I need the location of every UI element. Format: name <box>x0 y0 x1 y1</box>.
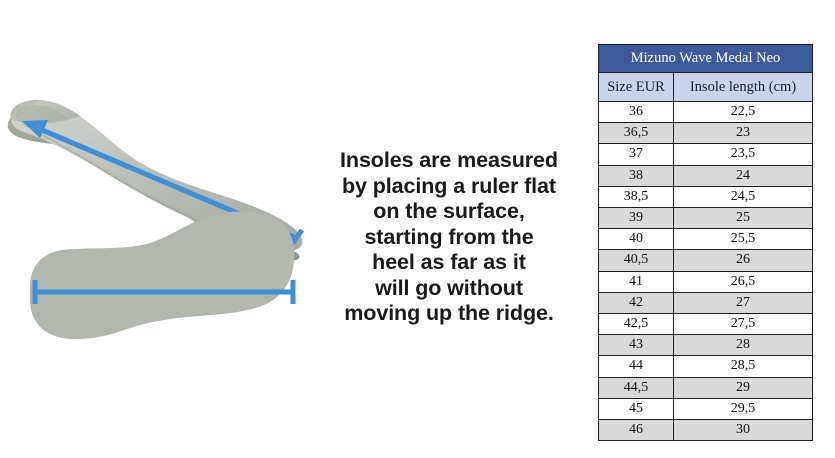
size-chart-title-row: Mizuno Wave Medal Neo <box>599 45 813 73</box>
table-row: 44,5 29 <box>599 377 813 398</box>
table-row: 40 25,5 <box>599 229 813 250</box>
cell-size: 42 <box>599 292 674 313</box>
cell-size: 40 <box>599 229 674 250</box>
instruction-line: moving up the ridge. <box>318 301 580 327</box>
cell-length: 26,5 <box>674 271 813 292</box>
instruction-line: will go without <box>318 276 580 302</box>
cell-length: 25 <box>674 208 813 229</box>
table-row: 36,5 23 <box>599 123 813 144</box>
table-row: 38,5 24,5 <box>599 186 813 207</box>
cell-size: 36,5 <box>599 123 674 144</box>
cell-length: 29 <box>674 377 813 398</box>
cell-length: 23,5 <box>674 144 813 165</box>
cell-length: 27 <box>674 292 813 313</box>
instruction-line: by placing a ruler flat <box>318 174 580 200</box>
table-row: 43 28 <box>599 335 813 356</box>
table-row: 46 30 <box>599 420 813 441</box>
cell-size: 44 <box>599 356 674 377</box>
cell-length: 29,5 <box>674 398 813 419</box>
cell-length: 28,5 <box>674 356 813 377</box>
instruction-line: on the surface, <box>318 199 580 225</box>
table-row: 39 25 <box>599 208 813 229</box>
cell-size: 41 <box>599 271 674 292</box>
cell-size: 46 <box>599 420 674 441</box>
cell-length: 25,5 <box>674 229 813 250</box>
cell-length: 27,5 <box>674 314 813 335</box>
cell-length: 24 <box>674 165 813 186</box>
insole-silhouette <box>30 211 294 339</box>
size-chart-title: Mizuno Wave Medal Neo <box>599 45 813 73</box>
table-row: 36 22,5 <box>599 102 813 123</box>
table-row: 38 24 <box>599 165 813 186</box>
insole-top-down-view <box>30 211 294 339</box>
insole-illustration <box>0 90 330 355</box>
size-chart-table: Mizuno Wave Medal Neo Size EUR Insole le… <box>598 44 813 441</box>
table-row: 41 26,5 <box>599 271 813 292</box>
cell-length: 24,5 <box>674 186 813 207</box>
cell-size: 40,5 <box>599 250 674 271</box>
cell-size: 39 <box>599 208 674 229</box>
instruction-line: starting from the <box>318 225 580 251</box>
table-row: 40,5 26 <box>599 250 813 271</box>
column-header-insole-length: Insole length (cm) <box>674 73 813 102</box>
instruction-line: heel as far as it <box>318 250 580 276</box>
table-row: 45 29,5 <box>599 398 813 419</box>
table-row: 37 23,5 <box>599 144 813 165</box>
cell-length: 23 <box>674 123 813 144</box>
measurement-instruction-text: Insoles are measured by placing a ruler … <box>318 148 580 327</box>
cell-size: 45 <box>599 398 674 419</box>
cell-length: 22,5 <box>674 102 813 123</box>
table-row: 42,5 27,5 <box>599 314 813 335</box>
cell-length: 26 <box>674 250 813 271</box>
cell-length: 28 <box>674 335 813 356</box>
cell-size: 38 <box>599 165 674 186</box>
column-header-size-eur: Size EUR <box>599 73 674 102</box>
insole-size-guide-graphic: Insoles are measured by placing a ruler … <box>0 0 835 458</box>
cell-size: 43 <box>599 335 674 356</box>
size-chart: Mizuno Wave Medal Neo Size EUR Insole le… <box>598 44 812 441</box>
instruction-line: Insoles are measured <box>318 148 580 174</box>
size-chart-header-row: Size EUR Insole length (cm) <box>599 73 813 102</box>
cell-length: 30 <box>674 420 813 441</box>
table-row: 44 28,5 <box>599 356 813 377</box>
cell-size: 37 <box>599 144 674 165</box>
cell-size: 36 <box>599 102 674 123</box>
cell-size: 42,5 <box>599 314 674 335</box>
cell-size: 44,5 <box>599 377 674 398</box>
cell-size: 38,5 <box>599 186 674 207</box>
table-row: 42 27 <box>599 292 813 313</box>
